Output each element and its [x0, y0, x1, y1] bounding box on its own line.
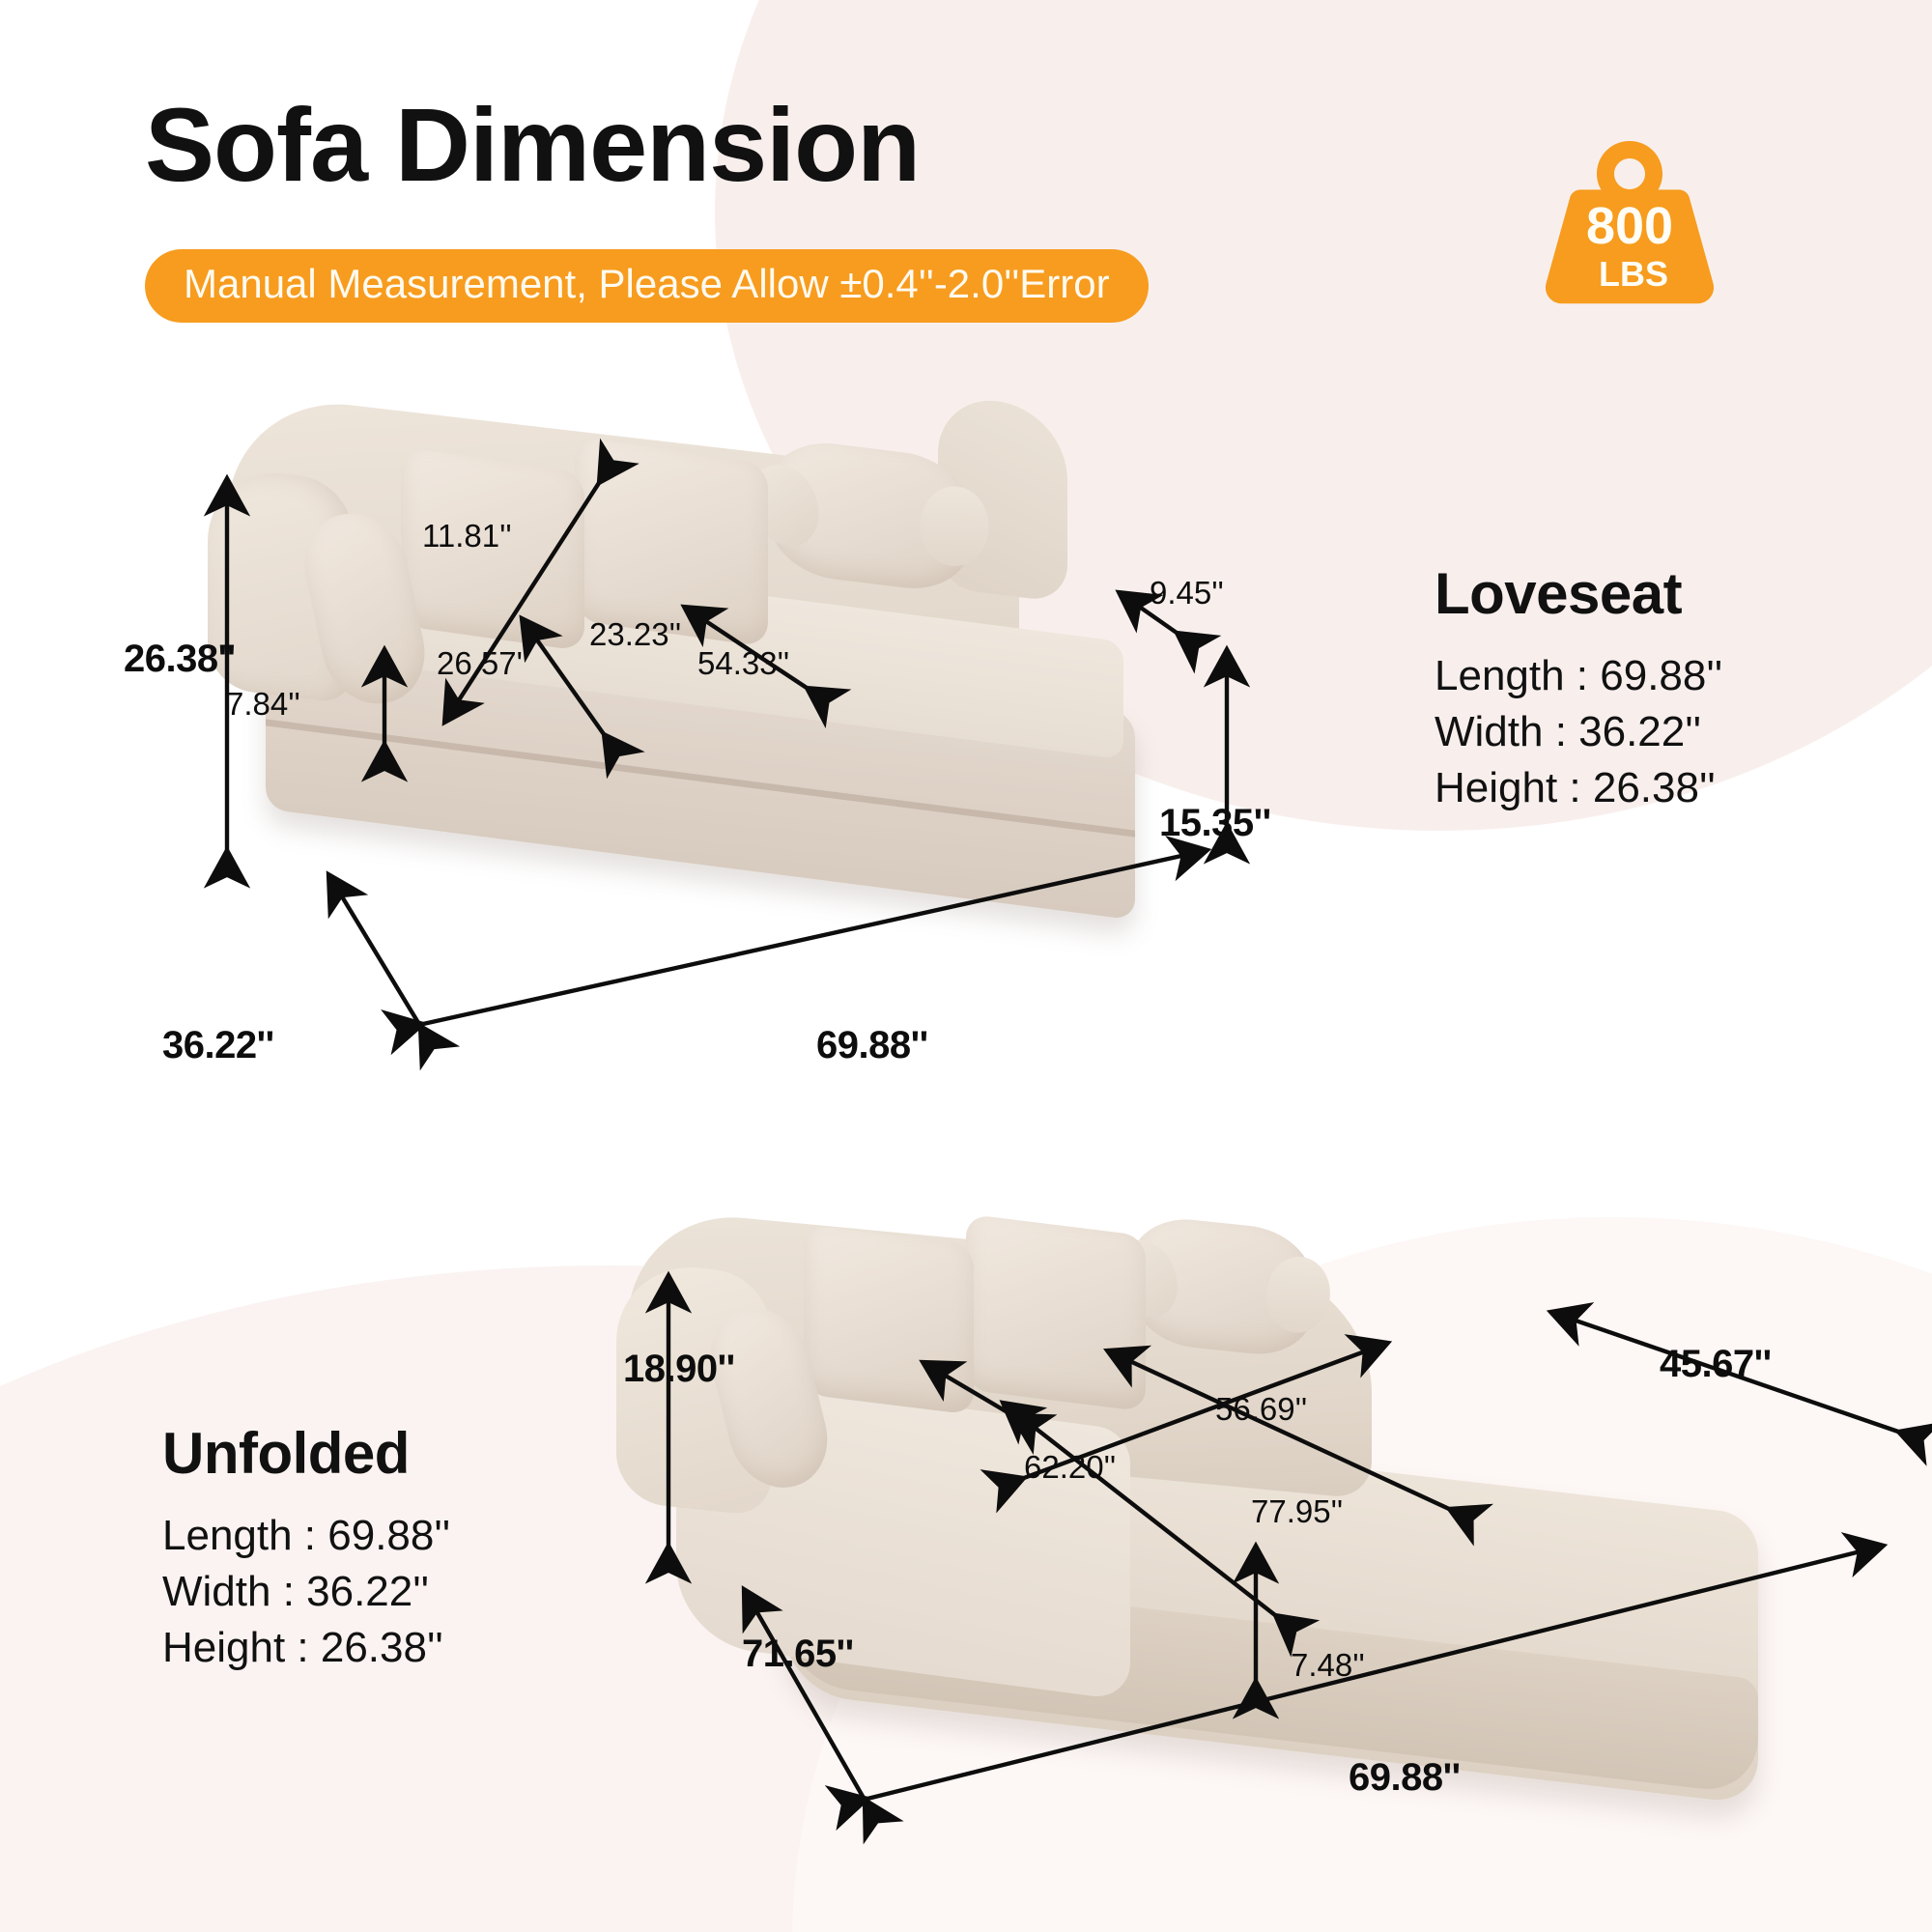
- bed-back-pillow-2: [966, 1214, 1146, 1412]
- unfolded-spec-heading: Unfolded: [162, 1420, 450, 1487]
- weight-kettlebell-icon: 800 LBS: [1538, 135, 1721, 314]
- unfolded-spec-block: Unfolded Length : 69.88'' Width : 36.22'…: [162, 1420, 450, 1676]
- loveseat-back-pillow-2: [575, 437, 768, 647]
- weight-capacity-badge: 800 LBS: [1538, 135, 1721, 314]
- unfolded-bed-product-image: [676, 1217, 1816, 1835]
- loveseat-spec-length: Length : 69.88'': [1435, 648, 1722, 704]
- weight-value: 800: [1586, 197, 1673, 255]
- loveseat-product-image: [208, 415, 1232, 995]
- bed-back-pillow-1: [804, 1224, 974, 1415]
- loveseat-back-pillow-1: [401, 447, 584, 652]
- measurement-disclaimer-banner: Manual Measurement, Please Allow ±0.4''-…: [145, 249, 1149, 323]
- weight-unit: LBS: [1599, 254, 1668, 294]
- loveseat-spec-height: Height : 26.38'': [1435, 760, 1722, 816]
- infographic-canvas: Sofa Dimension Manual Measurement, Pleas…: [0, 0, 1932, 1932]
- loveseat-spec-block: Loveseat Length : 69.88'' Width : 36.22'…: [1435, 560, 1722, 816]
- dim-loveseat-overall-length: 69.88'': [816, 1024, 928, 1067]
- page-title: Sofa Dimension: [145, 93, 920, 197]
- loveseat-spec-width: Width : 36.22'': [1435, 704, 1722, 760]
- unfolded-spec-length: Length : 69.88'': [162, 1508, 450, 1564]
- unfolded-spec-height: Height : 26.38'': [162, 1620, 450, 1676]
- loveseat-spec-heading: Loveseat: [1435, 560, 1722, 627]
- dim-loveseat-overall-width: 36.22'': [162, 1024, 274, 1067]
- unfolded-spec-width: Width : 36.22'': [162, 1564, 450, 1620]
